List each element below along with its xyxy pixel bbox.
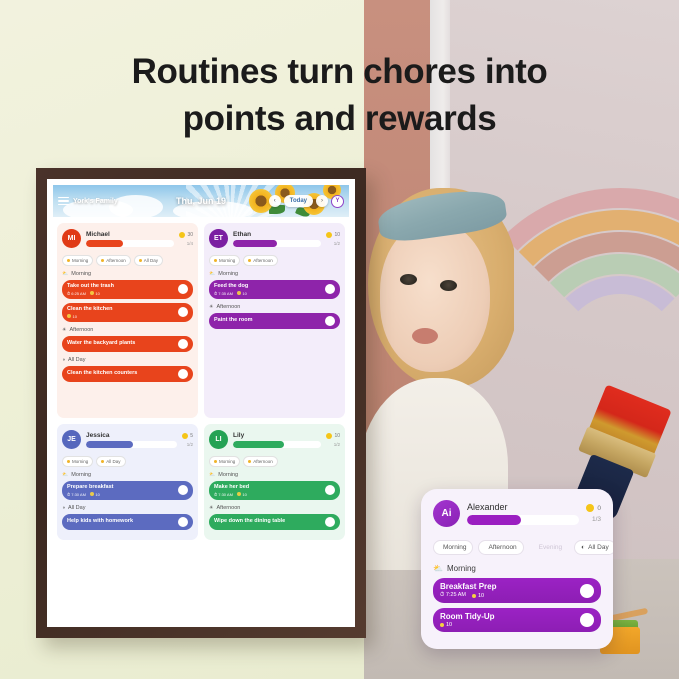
task-row[interactable]: Make her bed ⏱ 7:30 AM 10 [209,481,340,500]
task-time: ⏱ 7:25 AM [440,592,466,599]
task-title: Room Tidy-Up [440,612,580,621]
task-points: 10 [90,492,100,497]
today-button[interactable]: Today [284,195,313,207]
chip-dot-icon [67,460,70,463]
task-complete-toggle[interactable] [325,517,335,527]
headline: Routines turn chores into points and rew… [0,48,679,143]
task-meta: ⏱ 7:30 AM 10 [67,492,178,497]
task-complete-toggle[interactable] [178,284,188,294]
task-meta: ⏱ 7:35 AM 10 [214,291,325,296]
member-info: Ethan [233,231,321,247]
filter-chip[interactable]: Morning [62,255,93,266]
task-meta: ⏱ 7:30 AM 10 [214,492,325,497]
avatar: LI [209,430,228,449]
section-label: ⛅ Morning [209,271,340,277]
member-info: Michael [86,231,174,247]
filter-chip-row: Morning Afternoon [209,456,340,467]
task-complete-toggle[interactable] [325,284,335,294]
task-text: Clean the kitchen 10 [67,306,178,319]
member-header: LI Lily 10 1/2 [209,430,340,449]
member-points: 5 1/2 [182,433,193,447]
completion-fraction: 1/2 [182,442,193,447]
coin-icon [586,504,594,512]
member-card[interactable]: LI Lily 10 1/2 Morning Afternoon ⛅ [204,424,345,540]
section-glyph-icon: ⛅ [62,271,68,277]
filter-chip-row: Morning Afternoon [209,255,340,266]
filter-chip-row: Morning Afternoon All Day [62,255,193,266]
filter-chip-label: Morning [72,459,88,464]
task-row[interactable]: Help kids with homework [62,514,193,530]
task-title: Take out the trash [67,283,178,290]
member-name: Alexander [467,502,579,512]
filter-chip-label: Morning [219,258,235,263]
chip-dot-icon [67,259,70,262]
task-meta: 10 [67,314,178,319]
app-header: York's Family Thu, Jun 19 ‹ Today › Y [53,185,349,217]
completion-fraction: 1/4 [179,241,193,246]
phone-points: 0 1/3 [586,504,601,523]
section-glyph-icon: ⛅ [62,472,68,478]
phone-member-header: Ai Alexander 0 1/3 [433,500,601,527]
filter-chip-label: Afternoon [253,258,273,263]
section-label-text: All Day [68,357,85,363]
filter-chip-label: All Day [106,459,120,464]
phone-preview-card: Ai Alexander 0 1/3 Morning Afternoon Eve… [421,489,613,649]
picture-frame: York's Family Thu, Jun 19 ‹ Today › Y MI… [36,168,366,638]
task-title: Clean the kitchen counters [67,370,178,377]
section-glyph-icon: ◑ [62,357,65,363]
member-grid: MI Michael 30 1/4 Morning Afternoon All … [53,217,349,546]
filter-chip[interactable]: Morning [209,456,240,467]
section-label: ☀ Afternoon [62,327,193,333]
member-points: 10 1/2 [326,433,340,447]
section-glyph-icon: ⛅ [209,472,215,478]
filter-chip-label: Evening [539,544,563,551]
child-eye-left [400,274,417,285]
task-meta: ⏱ 7:25 AM 10 [440,592,580,599]
task-complete-toggle[interactable] [325,316,335,326]
member-name: Ethan [233,231,321,238]
points-value: 0 [597,505,601,512]
task-row[interactable]: Feed the dog ⏱ 7:35 AM 10 [209,280,340,299]
progress-bar [233,441,321,448]
member-header: JE Jessica 5 1/2 [62,430,193,449]
task-meta: 10 [440,622,580,628]
task-row[interactable]: Wipe down the dining table [209,514,340,530]
coin-icon [326,433,332,439]
section-label-text: Morning [218,271,238,277]
headline-line-1: Routines turn chores into [0,48,679,95]
points-value: 5 [190,433,193,439]
task-text: Take out the trash ⏱ 6:25 AM 10 [67,283,178,296]
section-label-text: Afternoon [69,327,93,333]
headline-line-2: points and rewards [0,95,679,142]
section-glyph-icon: ☀ [62,327,66,333]
section-glyph-icon: ☀ [209,304,213,310]
points-value: 10 [334,433,340,439]
member-card[interactable]: MI Michael 30 1/4 Morning Afternoon All … [57,223,198,418]
task-text: Make her bed ⏱ 7:30 AM 10 [214,484,325,497]
task-row[interactable]: Room Tidy-Up 10 [433,608,601,632]
member-card[interactable]: ET Ethan 10 1/2 Morning Afternoon ⛅ [204,223,345,418]
task-points: 10 [440,622,452,628]
task-text: Room Tidy-Up 10 [440,612,580,628]
task-title: Feed the dog [214,283,325,290]
profile-avatar-button[interactable]: Y [331,195,344,208]
task-time: ⏱ 7:30 AM [214,492,233,497]
section-label: ☀ Afternoon [209,304,340,310]
filter-chip[interactable]: Afternoon [478,540,523,555]
member-header: ET Ethan 10 1/2 [209,229,340,248]
task-complete-toggle[interactable] [178,339,188,349]
task-row[interactable]: Breakfast Prep ⏱ 7:25 AM 10 [433,578,601,603]
child-eye-right [440,280,457,291]
member-points: 10 1/2 [326,232,340,246]
section-label: ⛅ Morning [209,472,340,478]
task-row[interactable]: Take out the trash ⏱ 6:25 AM 10 [62,280,193,299]
task-text: Paint the room [214,317,325,324]
weather-icon: ⛅ [433,564,443,573]
coin-icon [182,433,188,439]
next-day-button[interactable]: › [316,195,328,207]
section-glyph-icon: ⛅ [209,271,215,277]
section-label-text: Afternoon [216,304,240,310]
task-title: Breakfast Prep [440,582,580,591]
task-text: Prepare breakfast ⏱ 7:30 AM 10 [67,484,178,497]
points-value: 10 [334,232,340,238]
progress-bar [86,240,174,247]
section-label: ⛅ Morning [62,472,193,478]
filter-chip[interactable]: ◐ All Day [574,540,613,555]
task-complete-toggle[interactable] [178,369,188,379]
section-label: ◑ All Day [62,505,193,511]
task-complete-toggle[interactable] [178,517,188,527]
filter-chip[interactable]: Afternoon [96,255,131,266]
chip-dot-icon [101,259,104,262]
coin-icon [179,232,185,238]
tablet-screen: York's Family Thu, Jun 19 ‹ Today › Y MI… [47,179,355,627]
task-row[interactable]: Clean the kitchen counters [62,366,193,382]
section-label: ⛅ Morning [62,271,193,277]
chip-icon: ◐ [581,544,585,551]
task-row[interactable]: Water the backyard plants [62,336,193,352]
avatar: JE [62,430,81,449]
task-title: Make her bed [214,484,325,491]
task-time: ⏱ 6:25 AM [67,291,86,296]
chip-dot-icon [248,259,251,262]
section-label: ⛅ Morning [433,564,601,573]
chip-dot-icon [214,460,217,463]
filter-chip-label: All Day [588,544,609,551]
filter-chip[interactable]: Afternoon [243,456,278,467]
member-name: Lily [233,432,321,439]
task-complete-toggle[interactable] [178,307,188,317]
filter-chip-row: Morning All Day [62,456,193,467]
filter-chip[interactable]: Morning [62,456,93,467]
progress-bar [233,240,321,247]
task-row[interactable]: Paint the room [209,313,340,329]
progress-bar [467,515,579,525]
member-info: Lily [233,432,321,448]
task-points: 10 [67,314,77,319]
filter-chip-label: Afternoon [488,544,516,551]
phone-filter-chips: Morning Afternoon Evening◐ All Day [433,540,601,555]
task-text: Feed the dog ⏱ 7:35 AM 10 [214,283,325,296]
chip-dot-icon [248,460,251,463]
task-time: ⏱ 7:35 AM [214,291,233,296]
chip-dot-icon [139,259,142,262]
task-points: 10 [90,291,100,296]
points-value: 30 [187,232,193,238]
completion-fraction: 1/3 [586,516,601,523]
task-text: Water the backyard plants [67,340,178,347]
filter-chip[interactable]: All Day [96,456,125,467]
filter-chip[interactable]: Evening [529,540,570,555]
section-label-text: All Day [68,505,85,511]
task-title: Prepare breakfast [67,484,178,491]
task-text: Help kids with homework [67,518,178,525]
member-info: Jessica [86,432,177,448]
filter-chip-label: Afternoon [253,459,273,464]
section-label-text: Morning [218,472,238,478]
section-glyph-icon: ◑ [62,505,65,511]
member-name: Jessica [86,432,177,439]
filter-chip[interactable]: All Day [134,255,163,266]
task-text: Clean the kitchen counters [67,370,178,377]
section-label: ◑ All Day [62,357,193,363]
section-label-text: Morning [71,271,91,277]
filter-chip[interactable]: Morning [209,255,240,266]
task-title: Water the backyard plants [67,340,178,347]
section-label-text: Afternoon [216,505,240,511]
prev-day-button[interactable]: ‹ [269,195,281,207]
task-title: Clean the kitchen [67,306,178,313]
phone-task-list: Breakfast Prep ⏱ 7:25 AM 10 Room Tidy-Up… [433,578,601,632]
task-complete-toggle[interactable] [325,485,335,495]
member-points: 30 1/4 [179,232,193,246]
member-card[interactable]: JE Jessica 5 1/2 Morning All Day ⛅ [57,424,198,540]
phone-member-info: Alexander [467,502,579,525]
task-row[interactable]: Prepare breakfast ⏱ 7:30 AM 10 [62,481,193,500]
task-points: 10 [237,291,247,296]
completion-fraction: 1/2 [326,241,340,246]
section-glyph-icon: ☀ [209,505,213,511]
task-title: Wipe down the dining table [214,518,325,525]
completion-fraction: 1/2 [326,442,340,447]
section-label-text: Morning [71,472,91,478]
task-meta: ⏱ 6:25 AM 10 [67,291,178,296]
task-complete-toggle[interactable] [178,485,188,495]
child-face [380,222,490,372]
task-points: 10 [472,593,484,599]
filter-chip[interactable]: Morning [433,540,473,555]
task-text: Wipe down the dining table [214,518,325,525]
avatar: MI [62,229,81,248]
member-name: Michael [86,231,174,238]
chip-dot-icon [214,259,217,262]
avatar: Ai [433,500,460,527]
task-title: Paint the room [214,317,325,324]
task-row[interactable]: Clean the kitchen 10 [62,303,193,322]
child-mouth [412,328,438,344]
task-time: ⏱ 7:30 AM [67,492,86,497]
filter-chip-label: Morning [72,258,88,263]
task-title: Help kids with homework [67,518,178,525]
member-header: MI Michael 30 1/4 [62,229,193,248]
task-complete-toggle[interactable] [580,613,594,627]
section-label-text: Morning [447,564,476,573]
filter-chip-label: Morning [219,459,235,464]
task-complete-toggle[interactable] [580,584,594,598]
avatar: ET [209,229,228,248]
header-controls: ‹ Today › Y [269,195,344,208]
task-points: 10 [237,492,247,497]
progress-bar [86,441,177,448]
filter-chip-label: All Day [144,258,158,263]
filter-chip-label: Morning [443,544,466,551]
filter-chip-label: Afternoon [106,258,126,263]
section-label: ☀ Afternoon [209,505,340,511]
filter-chip[interactable]: Afternoon [243,255,278,266]
task-text: Breakfast Prep ⏱ 7:25 AM 10 [440,582,580,599]
coin-icon [326,232,332,238]
chip-dot-icon [101,460,104,463]
